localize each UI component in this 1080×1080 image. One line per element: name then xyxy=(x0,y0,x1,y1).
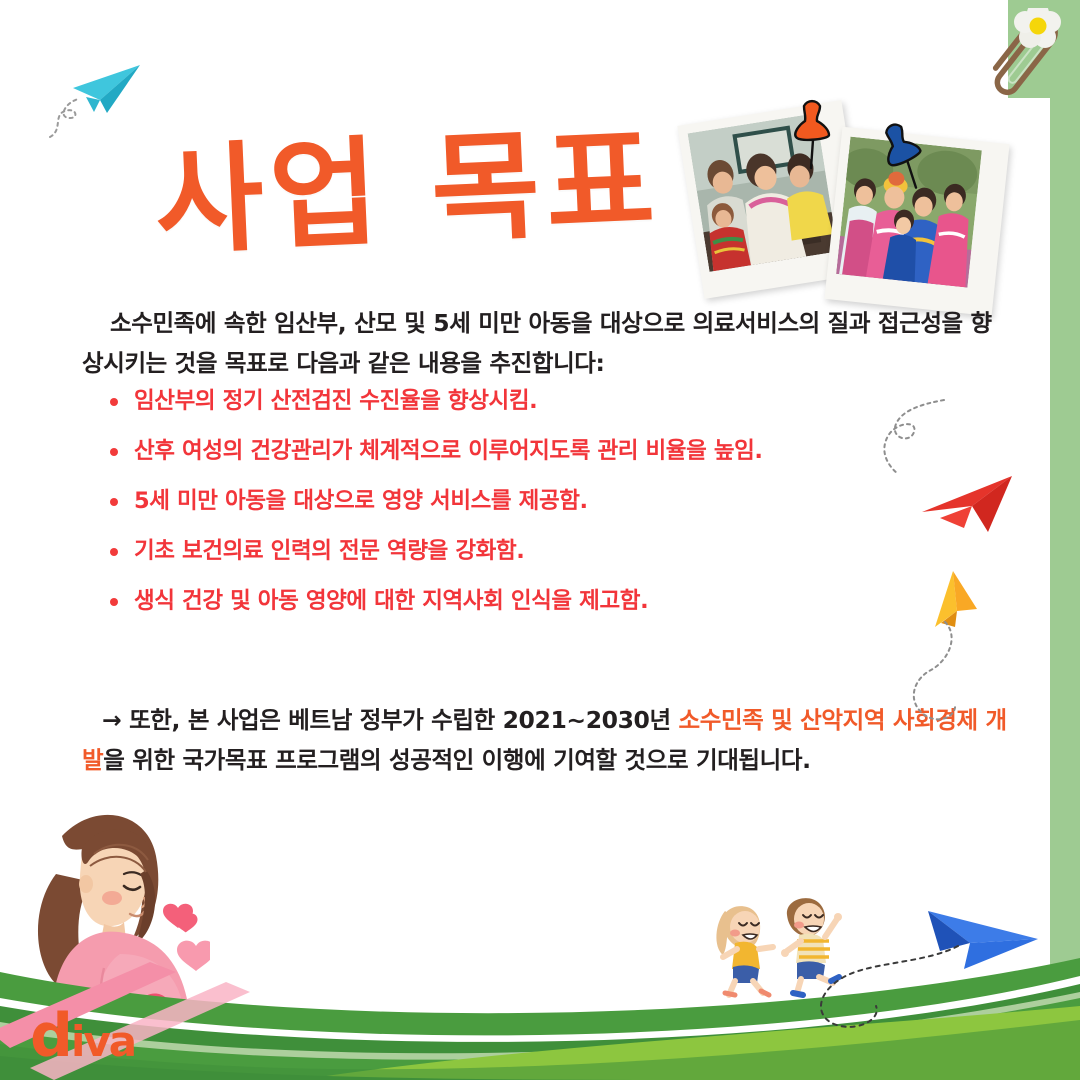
page-title: 사업 목표 xyxy=(153,121,663,261)
list-item: 산후 여성의 건강관리가 체계적으로 이루어지도록 관리 비율을 높임. xyxy=(110,435,940,485)
list-item: 생식 건강 및 아동 영양에 대한 지역사회 인식을 제고함. xyxy=(110,585,940,635)
list-item-label: 임산부의 정기 산전검진 수진율을 향상시킴. xyxy=(134,385,537,418)
list-item-label: 생식 건강 및 아동 영양에 대한 지역사회 인식을 제고함. xyxy=(134,585,648,618)
list-item-label: 산후 여성의 건강관리가 체계적으로 이루어지도록 관리 비율을 높임. xyxy=(134,435,763,468)
list-item-label: 5세 미만 아동을 대상으로 영양 서비스를 제공함. xyxy=(134,485,588,518)
outro-text-after: 을 위한 국가목표 프로그램의 성공적인 이행에 기여할 것으로 기대됩니다. xyxy=(103,746,810,774)
red-paper-plane-icon xyxy=(920,470,1040,550)
outro-text-before: 또한, 본 사업은 베트남 정부가 수립한 2021~2030년 xyxy=(121,706,678,734)
blue-paper-plane-icon xyxy=(918,893,1058,983)
bullet-dot-icon xyxy=(110,548,118,556)
bullet-dot-icon xyxy=(110,398,118,406)
poster-canvas: 사업 목표 xyxy=(0,0,1080,1080)
orange-pushpin-icon xyxy=(780,96,842,176)
bullet-dot-icon xyxy=(110,598,118,606)
bullet-dot-icon xyxy=(110,448,118,456)
outro-paragraph: → 또한, 본 사업은 베트남 정부가 수립한 2021~2030년 소수민족 … xyxy=(82,700,1007,781)
logo-mark: d xyxy=(30,1001,71,1071)
blue-pushpin-icon xyxy=(873,118,935,198)
list-item: 5세 미만 아동을 대상으로 영양 서비스를 제공함. xyxy=(110,485,940,535)
list-item: 임산부의 정기 산전검진 수진율을 향상시킴. xyxy=(110,385,940,435)
logo-word: iva xyxy=(71,1017,135,1066)
list-item: 기초 보건의료 인력의 전문 역량을 강화함. xyxy=(110,535,940,585)
cyan-paper-plane-icon xyxy=(45,45,155,140)
arrow-glyph: → xyxy=(102,706,121,734)
paperclip-with-daisy-icon xyxy=(968,8,1074,112)
list-item-label: 기초 보건의료 인력의 전문 역량을 강화함. xyxy=(134,535,524,568)
goals-list: 임산부의 정기 산전검진 수진율을 향상시킴. 산후 여성의 건강관리가 체계적… xyxy=(110,385,940,635)
intro-paragraph: 소수민족에 속한 임산부, 산모 및 5세 미만 아동을 대상으로 의료서비스의… xyxy=(82,303,1004,384)
bullet-dot-icon xyxy=(110,498,118,506)
diva-logo: diva xyxy=(30,1006,135,1066)
yellow-paper-plane-icon xyxy=(915,565,1005,645)
